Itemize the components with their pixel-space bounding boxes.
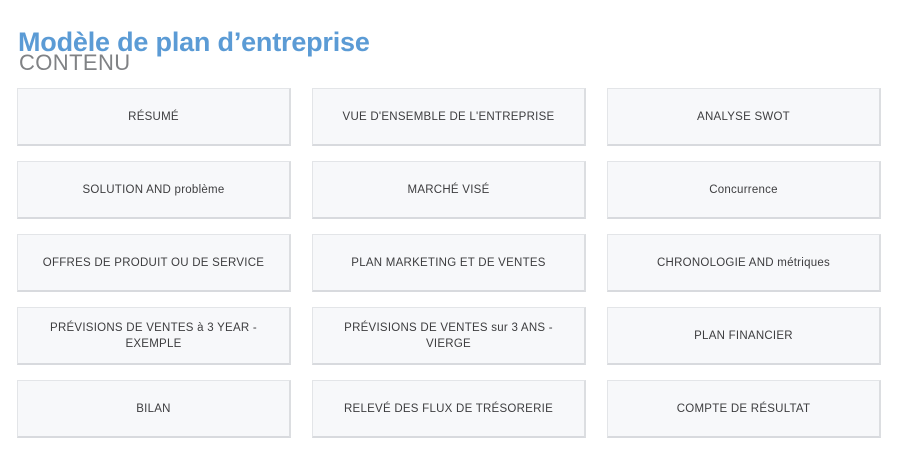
contents-tile-label: MARCHÉ VISÉ [408, 182, 490, 198]
contents-tile[interactable]: PLAN FINANCIER [607, 307, 881, 365]
contents-tile-label: VUE D'ENSEMBLE DE L'ENTREPRISE [343, 109, 555, 125]
contents-section-label: CONTENU [19, 50, 131, 76]
contents-tile-label: PLAN MARKETING ET DE VENTES [351, 255, 545, 271]
contents-tile[interactable]: RÉSUMÉ [17, 88, 291, 146]
contents-tile-label: CHRONOLOGIE AND métriques [657, 255, 830, 271]
contents-tile[interactable]: VUE D'ENSEMBLE DE L'ENTREPRISE [312, 88, 586, 146]
contents-tile-label: BILAN [136, 401, 171, 417]
contents-tile-label: Concurrence [709, 182, 778, 198]
contents-tile[interactable]: Concurrence [607, 161, 881, 219]
contents-tile-label: RELEVÉ DES FLUX DE TRÉSORERIE [344, 401, 553, 417]
contents-tile[interactable]: COMPTE DE RÉSULTAT [607, 380, 881, 438]
contents-tile[interactable]: CHRONOLOGIE AND métriques [607, 234, 881, 292]
contents-tile-label: PLAN FINANCIER [694, 328, 793, 344]
contents-tile[interactable]: OFFRES DE PRODUIT OU DE SERVICE [17, 234, 291, 292]
contents-tile[interactable]: RELEVÉ DES FLUX DE TRÉSORERIE [312, 380, 586, 438]
business-plan-template-page: Modèle de plan d’entreprise CONTENU RÉSU… [0, 0, 900, 449]
contents-tile[interactable]: PLAN MARKETING ET DE VENTES [312, 234, 586, 292]
contents-tile[interactable]: ANALYSE SWOT [607, 88, 881, 146]
contents-tile-label: ANALYSE SWOT [697, 109, 790, 125]
contents-tile-label: OFFRES DE PRODUIT OU DE SERVICE [43, 255, 264, 271]
contents-tile[interactable]: BILAN [17, 380, 291, 438]
contents-grid: RÉSUMÉ VUE D'ENSEMBLE DE L'ENTREPRISE AN… [17, 88, 885, 438]
contents-tile-label: PRÉVISIONS DE VENTES à 3 YEAR - EXEMPLE [50, 320, 257, 352]
contents-tile[interactable]: SOLUTION AND problème [17, 161, 291, 219]
contents-tile-label: RÉSUMÉ [128, 109, 179, 125]
contents-tile[interactable]: PRÉVISIONS DE VENTES sur 3 ANS - VIERGE [312, 307, 586, 365]
contents-tile-label: SOLUTION AND problème [82, 182, 224, 198]
contents-tile-label: PRÉVISIONS DE VENTES sur 3 ANS - VIERGE [344, 320, 553, 352]
contents-tile-label: COMPTE DE RÉSULTAT [677, 401, 811, 417]
contents-tile[interactable]: PRÉVISIONS DE VENTES à 3 YEAR - EXEMPLE [17, 307, 291, 365]
contents-tile[interactable]: MARCHÉ VISÉ [312, 161, 586, 219]
